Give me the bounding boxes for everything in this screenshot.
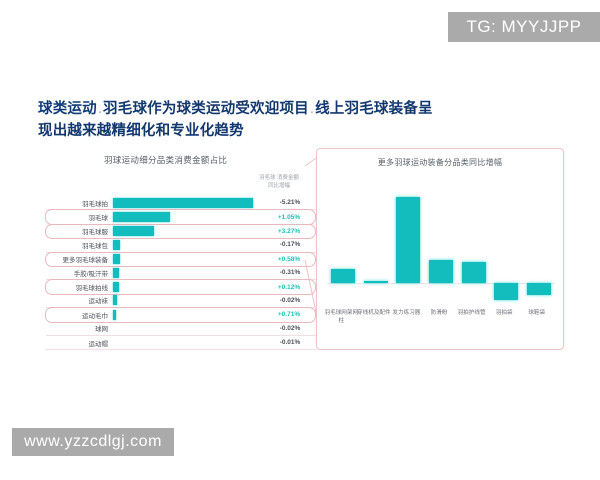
right-chart-x-label: 穿线机及配件 [357,309,391,317]
left-chart-bar-area [113,196,264,209]
left-chart-bar-area [113,322,264,335]
right-chart-x-label: 防滑粉 [422,309,456,317]
left-chart-row-value: +0.58% [263,256,315,263]
left-chart-row: 羽毛球拍-5.21% [46,196,316,210]
left-chart-row-label: 羽毛球拍线 [46,282,113,292]
left-chart-bar [113,226,154,236]
headline-segment-2: 羽毛球作为球类运动受欢迎项目 [103,101,309,117]
left-chart-rows: 羽毛球拍-5.21%羽毛球+1.05%羽毛球服+3.27%羽毛球包-0.17%更… [46,196,316,350]
left-chart-bar-area [113,266,264,279]
left-chart-row: 羽毛球包-0.17% [46,238,316,252]
left-chart-row: 羽毛球拍线+0.12% [45,279,316,294]
left-chart-row-value: +0.12% [263,284,315,291]
left-chart-row-label: 运动袜 [46,295,113,305]
left-chart-bar-area [113,336,264,349]
legend-line-1: 羽毛球 消费金额 [248,174,310,182]
left-chart-bar-area [113,280,263,293]
left-chart-row: 运动袜-0.02% [46,294,316,308]
right-chart-bar [396,197,420,283]
left-chart-bar [113,282,119,292]
left-chart-row-label: 羽毛球包 [46,240,113,250]
right-chart-bar [527,283,551,295]
left-chart-bar-area [113,238,264,251]
left-chart-bar-area [113,225,263,238]
left-chart-row-label: 手胶/吸汗带 [46,268,113,278]
left-chart-row: 运动帽-0.01% [46,336,316,350]
left-chart-panel: 羽球运动细分品类消费金额占比 羽毛球 消费金额 同比增幅 羽毛球拍-5.21%羽… [46,154,316,344]
left-chart-bar-area [113,210,263,223]
tg-watermark: TG: MYYJJPP [448,12,600,42]
page-title: 球类运动.羽毛球作为球类运动受欢迎项目.线上羽毛球装备呈现出越来越精细化和专业化… [38,98,438,143]
legend-line-2: 同比增幅 [248,182,310,190]
left-chart-bar [113,198,253,208]
left-chart-row: 羽毛球服+3.27% [45,224,316,239]
right-chart-panel: 更多羽球运动装备分品类同比增幅 羽毛球网架网柱穿线机及配件发力练习器防滑粉羽拍护… [316,148,564,350]
right-chart-bar [429,260,453,283]
headline-segment-1: 球类运动 [38,101,97,117]
left-chart-row-value: -0.31% [264,269,316,276]
left-chart-row: 球网-0.02% [46,322,316,336]
left-chart-row: 羽毛球+1.05% [45,209,316,224]
left-chart-row: 运动毛巾+0.71% [45,307,316,322]
right-chart-x-label: 羽毛球网架网柱 [324,309,358,326]
right-chart-bar [331,269,355,283]
left-chart-row-value: -5.21% [264,199,316,206]
site-watermark: www.yzzcdlgj.com [12,428,174,456]
right-chart-bar [364,281,388,283]
left-chart-bar [113,268,119,278]
right-chart-title: 更多羽球运动装备分品类同比增幅 [317,157,563,168]
right-chart-bar [462,262,486,284]
left-chart-bar-area [113,253,263,266]
left-chart-row-label: 运动帽 [46,338,113,348]
left-chart-row-value: -0.02% [264,297,316,304]
right-chart-plot [327,173,555,309]
slide-canvas: 球类运动.羽毛球作为球类运动受欢迎项目.线上羽毛球装备呈现出越来越精细化和专业化… [0,62,600,420]
right-chart-x-axis-labels: 羽毛球网架网柱穿线机及配件发力练习器防滑粉羽拍护线管羽拍袋球鞋袋 [325,309,557,337]
left-chart-row-value: +1.05% [263,214,315,221]
left-chart-row-label: 球网 [46,323,113,333]
left-chart-row-label: 羽毛球拍 [46,198,113,208]
left-chart-row-value: -0.02% [264,325,316,332]
right-chart-x-label: 发力练习器 [389,309,423,317]
left-chart-bar [113,212,170,222]
left-chart-row-value: +0.71% [263,311,315,318]
left-chart-bar [113,240,120,250]
right-chart-bar [494,283,518,300]
left-chart-legend: 羽毛球 消费金额 同比增幅 [248,174,310,191]
left-chart-row-value: +3.27% [263,228,315,235]
left-chart-row: 更多羽毛球装备+0.58% [45,252,316,267]
left-chart-bar-area [113,308,263,321]
right-chart-x-label: 球鞋袋 [520,309,554,317]
left-chart-title: 羽球运动细分品类消费金额占比 [104,154,227,166]
left-chart-row-value: -0.01% [264,339,316,346]
left-chart-bar [113,254,120,264]
left-chart-row-label: 羽毛球 [46,212,113,222]
right-chart-x-label: 羽拍护线管 [455,309,489,317]
left-chart-bar-area [113,294,264,307]
left-chart-row-value: -0.17% [264,241,316,248]
right-chart-zero-axis [327,283,555,284]
left-chart-row-label: 羽毛球服 [46,226,113,236]
left-chart-row: 手胶/吸汗带-0.31% [46,266,316,280]
right-chart-x-label: 羽拍袋 [487,309,521,317]
left-chart-bar [113,310,116,320]
left-chart-row-label: 运动毛巾 [46,310,113,320]
left-chart-bar [113,295,117,305]
left-chart-row-label: 更多羽毛球装备 [46,254,113,264]
